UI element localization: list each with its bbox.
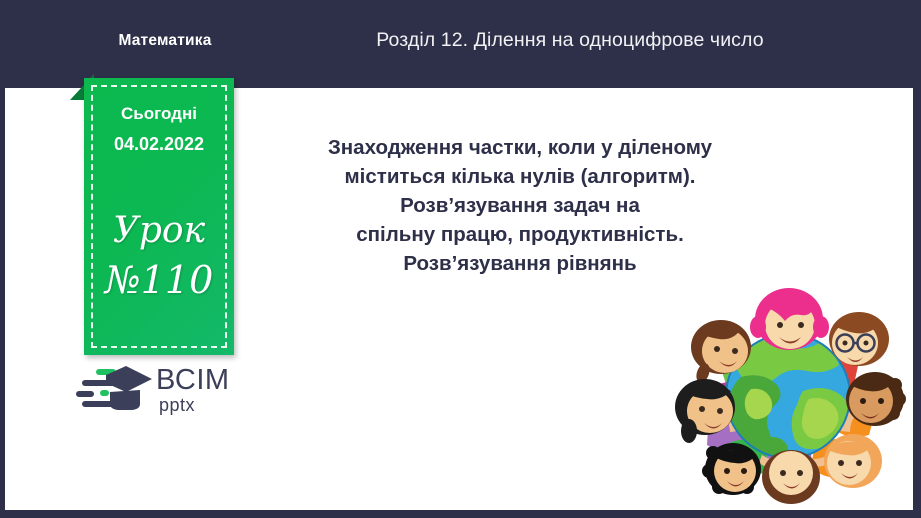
title-line-2: міститься кілька нулів (алгоритм). bbox=[250, 162, 790, 191]
graduation-cap-icon bbox=[76, 364, 152, 412]
logo-brand: ВСІМ bbox=[156, 366, 230, 395]
chapter-title: Розділ 12. Ділення на одноцифрове число bbox=[260, 29, 880, 52]
child-head-bottom-right bbox=[824, 434, 882, 488]
title-line-5: Розв’язування рівнянь bbox=[250, 249, 790, 278]
title-line-3: Розв’язування задач на bbox=[250, 191, 790, 220]
subject-label: Математика bbox=[60, 32, 270, 50]
children-around-globe-illustration bbox=[663, 281, 913, 509]
child-head-bottom-left bbox=[702, 443, 761, 495]
title-line-1: Знаходження частки, коли у діленому bbox=[250, 133, 790, 162]
card-date-value: 04.02.2022 bbox=[84, 134, 234, 155]
slide-footer-bar bbox=[0, 510, 921, 518]
slide-canvas: Математика Розділ 12. Ділення на одноциф… bbox=[0, 0, 921, 518]
child-head-right bbox=[846, 372, 906, 426]
slide-right-border bbox=[913, 0, 921, 518]
lesson-info-card: Сьогодні 04.02.2022 Урок №110 bbox=[84, 78, 234, 355]
child-head-upper-right bbox=[829, 312, 889, 366]
bcim-logo: ВСІМ pptx bbox=[76, 364, 248, 416]
logo-text-block: ВСІМ pptx bbox=[156, 366, 230, 414]
card-today-label: Сьогодні bbox=[84, 104, 234, 124]
page-title: Знаходження частки, коли у діленому міст… bbox=[250, 133, 790, 278]
title-line-4: спільну працю, продуктивність. bbox=[250, 220, 790, 249]
child-head-bottom-center bbox=[762, 450, 820, 504]
slide-left-border bbox=[0, 0, 5, 518]
card-lesson-number: №110 bbox=[84, 258, 234, 302]
logo-subtext: pptx bbox=[159, 396, 230, 414]
card-lesson-word: Урок bbox=[84, 210, 234, 251]
